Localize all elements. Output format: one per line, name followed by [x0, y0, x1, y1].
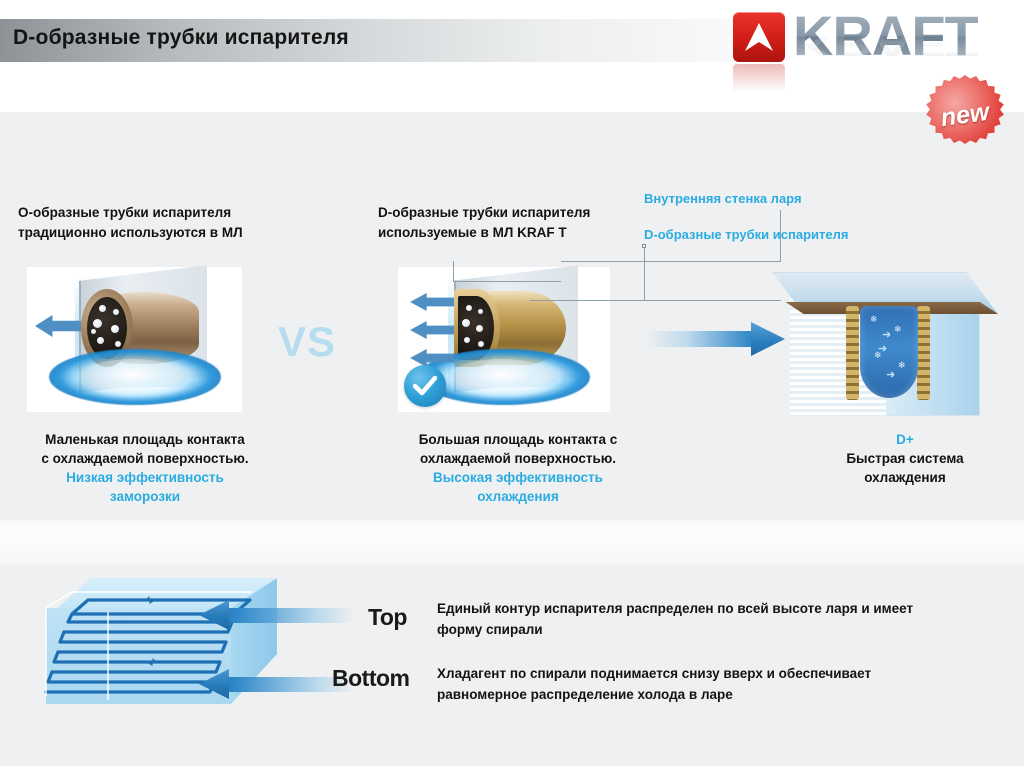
callout-leader-d-tubes-stub	[530, 300, 646, 301]
callout-leader-inner-wall-stub	[453, 281, 561, 282]
flow-arrow-top	[199, 600, 355, 630]
check-circle-icon	[404, 365, 446, 407]
middle-caption-highlight: Высокая эффективность охлаждения	[378, 468, 658, 506]
callout-label-inner-wall: Внутренняя стенка ларя	[644, 189, 802, 208]
new-badge: new	[922, 75, 1008, 161]
right-caption: Быстрая система охлаждения	[790, 449, 1020, 487]
callout-leader-d-tubes-vert	[644, 247, 645, 301]
callout-leader-inner-wall-vert	[780, 210, 781, 262]
right-badge-label: D+	[790, 430, 1020, 449]
kraft-arrow-icon	[733, 12, 785, 62]
left-caption-highlight: Низкая эффективность заморозки	[0, 468, 290, 506]
slide-canvas: D-образные трубки испарителя KRAFT KRAFT…	[0, 0, 1024, 766]
bottom-text-bottom: Хладагент по спирали поднимается снизу в…	[437, 663, 977, 705]
o-shaped-tube-illustration	[27, 267, 242, 412]
callout-leader-d-tubes	[645, 300, 781, 301]
label-top: Top	[368, 604, 407, 631]
brand-wordmark-reflection: KRAFT	[793, 29, 978, 62]
page-title: D-образные трубки испарителя	[13, 26, 349, 50]
callout-anchor-dot	[642, 244, 646, 248]
bottom-text-top: Единый контур испарителя распределен по …	[437, 598, 977, 640]
versus-label: VS	[278, 318, 336, 366]
background-band-divider	[0, 520, 1024, 565]
middle-heading: D-образные трубки испарителя используемы…	[378, 203, 658, 243]
middle-caption: Большая площадь контакта с охлаждаемой п…	[378, 430, 658, 468]
d-shaped-tube-illustration	[398, 267, 610, 412]
callout-leader-inner-wall	[561, 261, 781, 262]
cooling-shield-panel: ❄ ❄ ❄ ❄ ➜ ➜ ➜	[860, 306, 918, 398]
chest-freezer-cutaway: ❄ ❄ ❄ ❄ ➜ ➜ ➜	[772, 272, 1004, 422]
flow-arrow-to-freezer	[645, 322, 785, 356]
left-heading: О-образные трубки испарителя традиционно…	[18, 203, 278, 243]
label-bottom: Bottom	[332, 665, 409, 692]
left-caption: Маленькая площадь контакта с охлаждаемой…	[0, 430, 290, 468]
logo-mark-reflection	[733, 64, 785, 92]
callout-leader-inner-wall-riser	[453, 261, 454, 282]
callout-label-d-tubes: D-образные трубки испарителя	[644, 225, 848, 244]
